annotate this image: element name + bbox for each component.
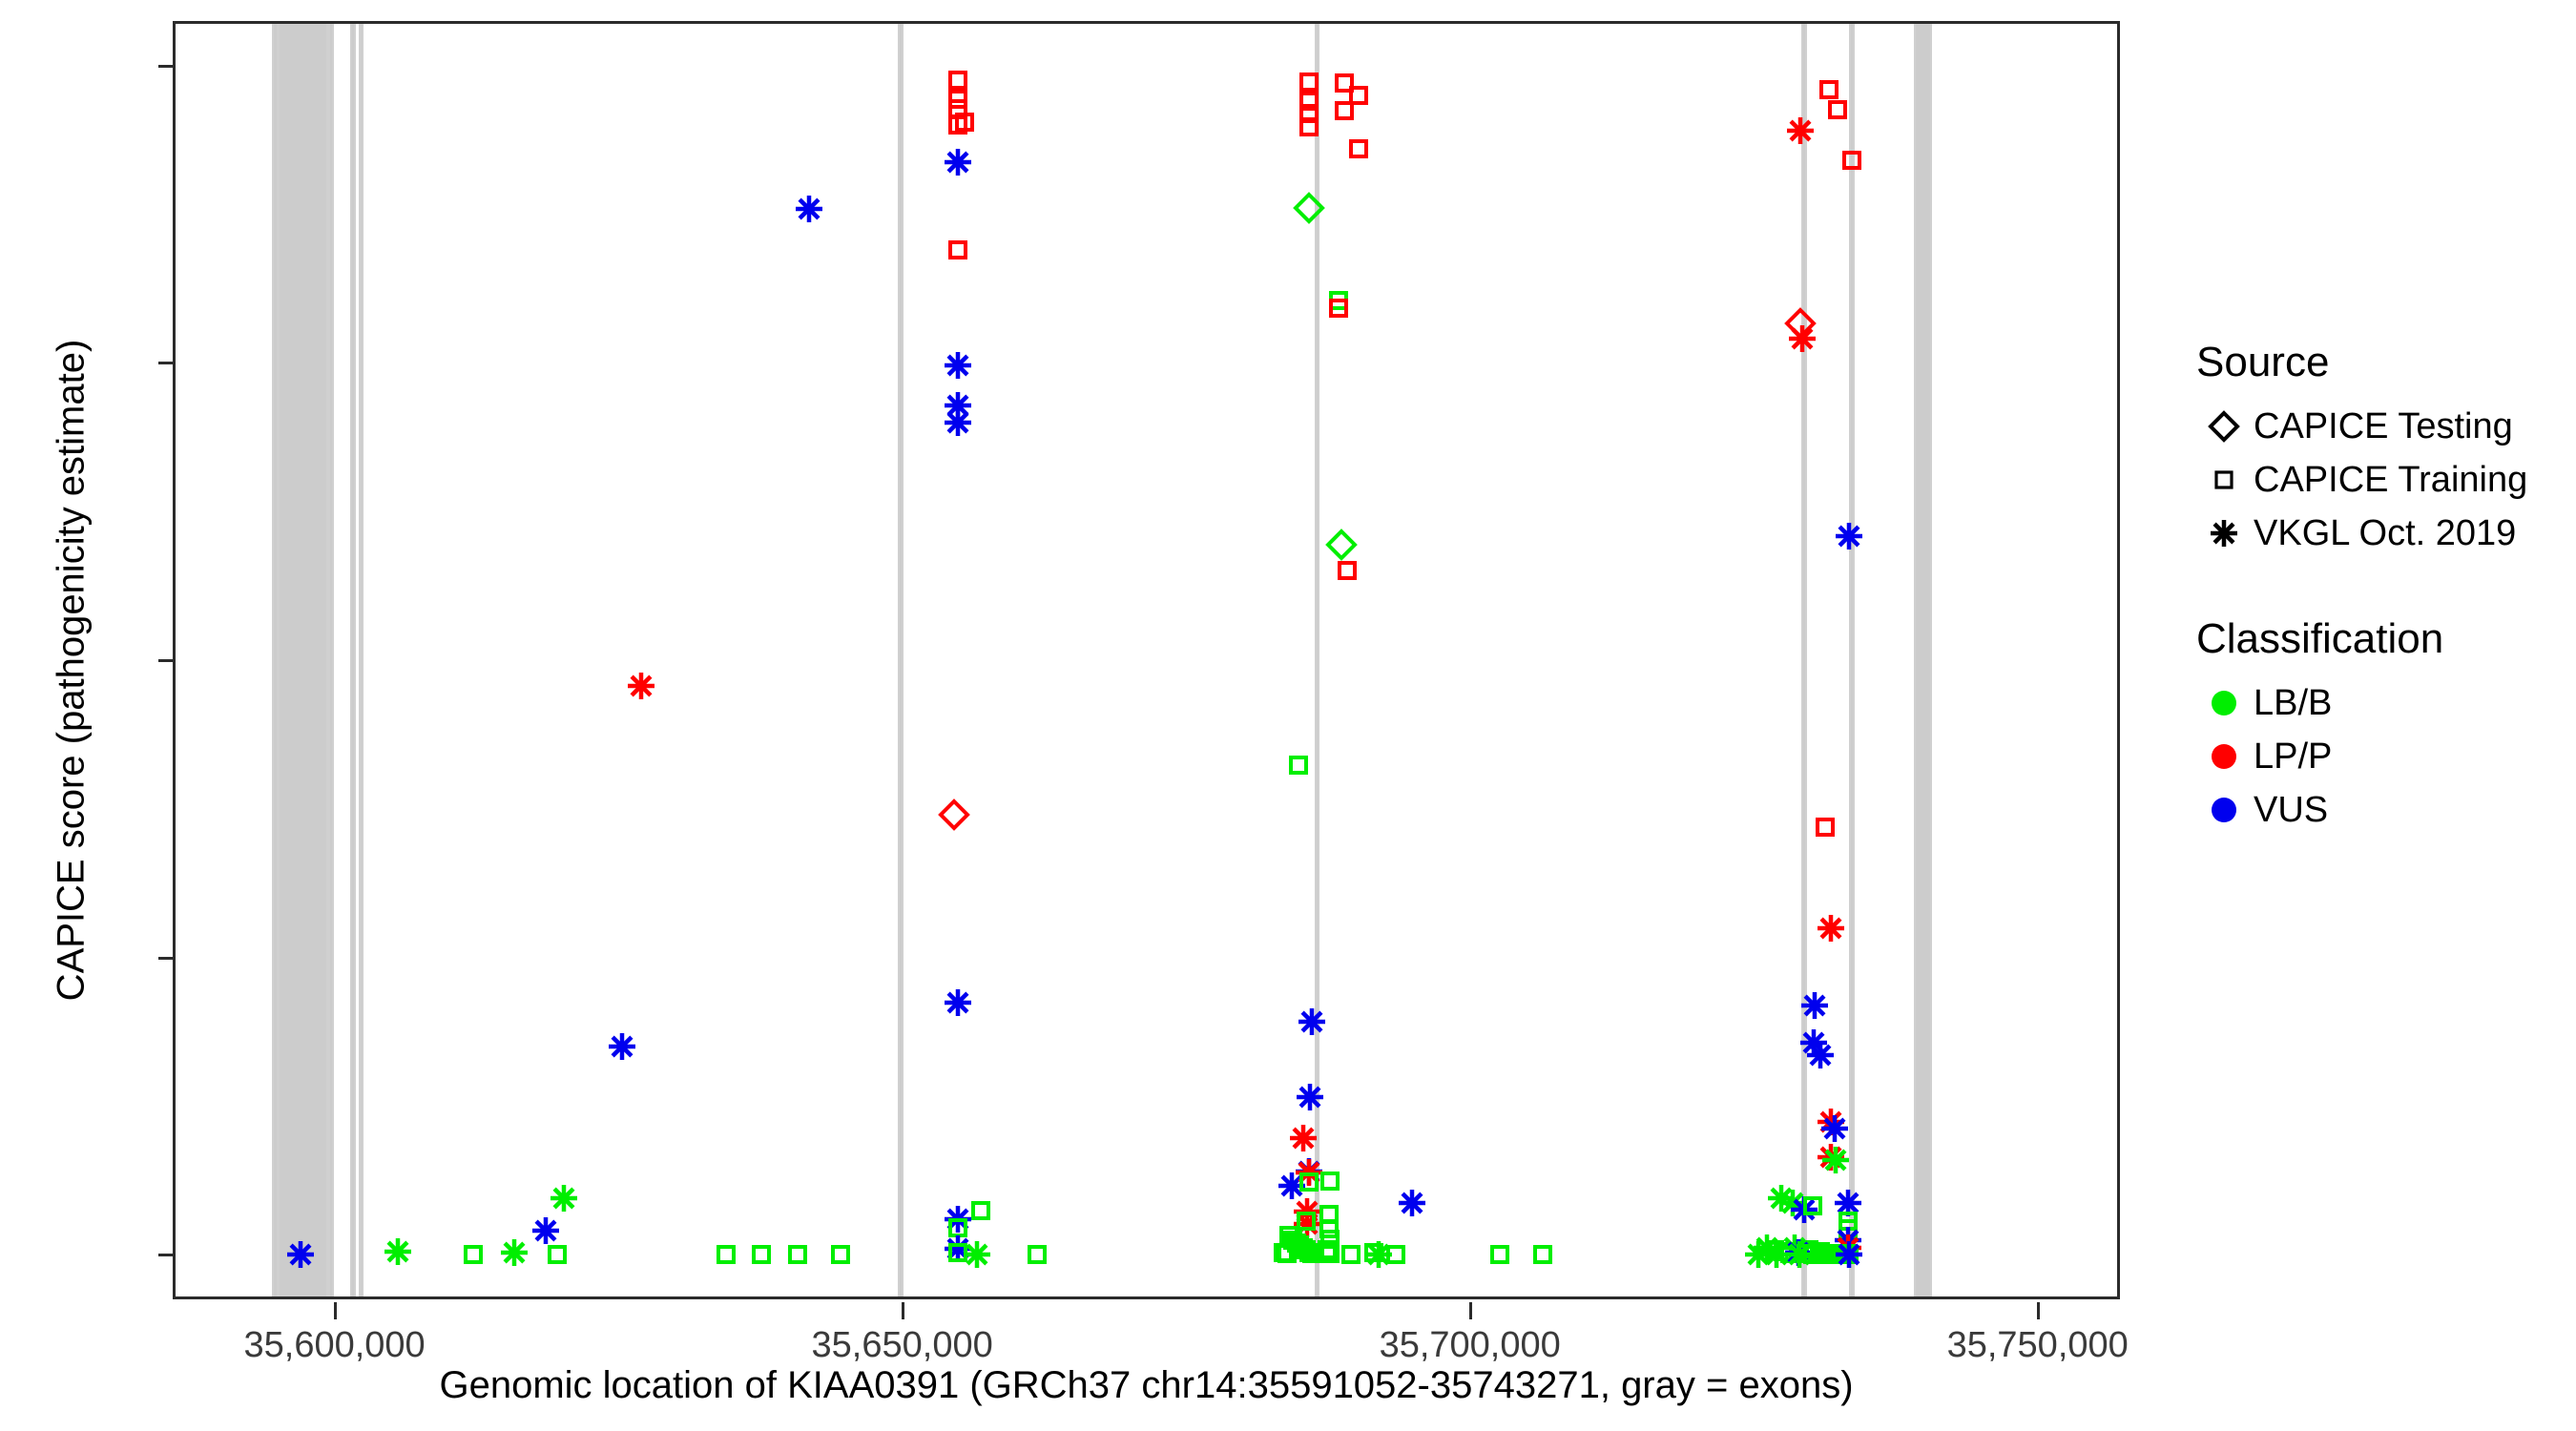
data-point bbox=[1767, 1235, 1799, 1268]
data-point bbox=[1810, 1237, 1842, 1270]
data-point bbox=[710, 1238, 742, 1271]
y-axis-tick bbox=[158, 65, 176, 68]
data-point bbox=[1273, 1219, 1305, 1252]
exon-boundary-line bbox=[272, 24, 274, 1296]
data-point bbox=[1358, 1236, 1390, 1269]
data-point bbox=[1782, 1236, 1815, 1269]
data-point bbox=[1283, 1229, 1316, 1261]
plot-panel bbox=[173, 21, 2120, 1299]
data-point bbox=[942, 1236, 974, 1269]
data-point bbox=[942, 349, 974, 382]
data-point bbox=[942, 1203, 974, 1235]
data-point bbox=[1271, 1237, 1303, 1270]
data-point bbox=[1815, 1141, 1847, 1173]
legend-item-label: VUS bbox=[2254, 790, 2328, 831]
data-point bbox=[1328, 94, 1361, 127]
data-point bbox=[548, 1182, 580, 1214]
data-point bbox=[942, 406, 974, 439]
data-point bbox=[1380, 1238, 1412, 1271]
y-axis-tick bbox=[158, 362, 176, 364]
data-point bbox=[1742, 1238, 1775, 1271]
data-point bbox=[1293, 1156, 1325, 1189]
exon-boundary-line bbox=[1930, 24, 1932, 1296]
data-point bbox=[793, 193, 825, 225]
data-point bbox=[942, 234, 974, 266]
data-point bbox=[1293, 192, 1325, 224]
x-axis-tick-label: 35,600,000 bbox=[244, 1325, 426, 1366]
data-point bbox=[745, 1238, 778, 1271]
data-point bbox=[1296, 1006, 1328, 1038]
data-point bbox=[1328, 67, 1361, 99]
legend-item[interactable]: CAPICE Training bbox=[2194, 453, 2576, 507]
data-point bbox=[1325, 529, 1358, 561]
exon-boundary-line bbox=[362, 24, 364, 1296]
legend-item-label: LB/B bbox=[2254, 683, 2332, 724]
data-point bbox=[938, 798, 970, 831]
data-point bbox=[1484, 1238, 1516, 1271]
data-point bbox=[1342, 79, 1375, 112]
exon-boundary-line bbox=[1853, 24, 1855, 1296]
data-point bbox=[942, 389, 974, 422]
data-point bbox=[1280, 1227, 1313, 1259]
data-point bbox=[606, 1030, 638, 1063]
data-point bbox=[1832, 1213, 1864, 1245]
data-point bbox=[1815, 912, 1847, 944]
exon-boundary-line bbox=[902, 24, 904, 1296]
x-axis-tick-label: 35,700,000 bbox=[1380, 1325, 1561, 1366]
data-point bbox=[942, 986, 974, 1019]
data-point bbox=[1276, 1170, 1308, 1202]
legend-item-label: LP/P bbox=[2254, 736, 2332, 778]
data-point bbox=[1362, 1238, 1395, 1271]
data-point bbox=[1322, 292, 1355, 324]
legend-group-classification: LB/BLP/PVUS bbox=[2194, 676, 2576, 837]
data-point bbox=[1293, 85, 1325, 117]
data-point bbox=[1335, 1238, 1367, 1271]
x-axis-tick bbox=[2037, 1302, 2040, 1319]
data-point bbox=[625, 670, 657, 702]
data-point bbox=[1751, 1232, 1783, 1264]
data-point bbox=[1277, 1224, 1309, 1256]
data-point bbox=[1819, 1144, 1852, 1176]
legend-group-source: CAPICE TestingCAPICE TrainingVKGL Oct. 2… bbox=[2194, 400, 2576, 560]
legend-item[interactable]: LP/P bbox=[2194, 730, 2576, 783]
data-point bbox=[942, 93, 974, 125]
data-point bbox=[1804, 1235, 1837, 1268]
exon-boundary-line bbox=[1805, 24, 1807, 1296]
data-point bbox=[942, 1212, 974, 1244]
x-axis-tick bbox=[1469, 1302, 1472, 1319]
data-point bbox=[1832, 1187, 1864, 1219]
y-axis-tick bbox=[158, 1254, 176, 1256]
data-point bbox=[1760, 1238, 1793, 1271]
data-point bbox=[1793, 1234, 1825, 1266]
data-point bbox=[824, 1238, 857, 1271]
data-point bbox=[942, 1233, 974, 1265]
filled-circle-icon bbox=[2194, 744, 2254, 769]
data-point bbox=[1832, 1232, 1864, 1264]
data-point bbox=[382, 1235, 414, 1268]
x-axis-tick-label: 35,750,000 bbox=[1947, 1325, 2129, 1366]
filled-circle-icon bbox=[2194, 798, 2254, 822]
data-point bbox=[942, 64, 974, 96]
exon-boundary-line bbox=[354, 24, 356, 1296]
data-point bbox=[781, 1238, 814, 1271]
y-axis-tick bbox=[158, 957, 176, 960]
data-point bbox=[1293, 111, 1325, 143]
exon-boundary-line bbox=[1849, 24, 1851, 1296]
exon-boundary-line bbox=[1914, 24, 1916, 1296]
data-point bbox=[942, 146, 974, 178]
x-axis-title: Genomic location of KIAA0391 (GRCh37 chr… bbox=[173, 1364, 2120, 1407]
data-point bbox=[1296, 1237, 1328, 1270]
exon-boundary-line bbox=[1318, 24, 1319, 1296]
data-point bbox=[1331, 554, 1363, 587]
exon-boundary-line bbox=[1801, 24, 1803, 1296]
y-axis-tick bbox=[158, 659, 176, 662]
exon-boundary-line bbox=[350, 24, 352, 1296]
legend-item[interactable]: VKGL Oct. 2019 bbox=[2194, 507, 2576, 560]
data-point bbox=[1293, 1236, 1325, 1269]
exon-boundary-line bbox=[1315, 24, 1317, 1296]
data-point bbox=[1293, 66, 1325, 98]
legend-item[interactable]: LB/B bbox=[2194, 676, 2576, 730]
data-point bbox=[1818, 1112, 1851, 1145]
data-point bbox=[1783, 1238, 1816, 1271]
data-point bbox=[1832, 1205, 1864, 1237]
data-point bbox=[498, 1236, 530, 1269]
x-axis-tick bbox=[334, 1302, 337, 1319]
data-point bbox=[942, 109, 974, 141]
data-point bbox=[1342, 133, 1375, 165]
x-axis-tick-label: 35,650,000 bbox=[812, 1325, 993, 1366]
legend-item-label: CAPICE Training bbox=[2254, 460, 2527, 501]
legend-item-label: CAPICE Testing bbox=[2254, 406, 2513, 447]
data-point bbox=[942, 83, 974, 115]
data-point bbox=[1282, 749, 1315, 781]
data-point bbox=[1021, 1238, 1053, 1271]
exon-boundary-line bbox=[328, 24, 330, 1296]
asterisk-icon bbox=[2194, 517, 2254, 550]
data-point bbox=[1765, 1182, 1797, 1214]
square-outline-icon bbox=[2194, 464, 2254, 496]
data-point bbox=[1322, 284, 1355, 317]
exon-boundary-line bbox=[359, 24, 361, 1296]
data-point bbox=[530, 1214, 562, 1247]
data-point bbox=[1827, 1238, 1859, 1271]
data-point bbox=[1803, 1236, 1836, 1269]
data-point bbox=[1527, 1238, 1559, 1271]
data-point bbox=[1396, 1187, 1428, 1219]
y-axis-title: CAPICE score (pathogenicity estimate) bbox=[51, 51, 93, 1291]
legend-title-source: Source bbox=[2196, 339, 2576, 386]
data-point bbox=[1293, 1166, 1325, 1198]
diamond-outline-icon bbox=[2194, 410, 2254, 443]
legend-item[interactable]: CAPICE Testing bbox=[2194, 400, 2576, 453]
x-axis-tick bbox=[902, 1302, 904, 1319]
data-point bbox=[948, 106, 981, 138]
exon-boundary-line bbox=[278, 24, 280, 1296]
legend: Source CAPICE TestingCAPICE TrainingVKGL… bbox=[2194, 339, 2576, 837]
data-point bbox=[457, 1238, 489, 1271]
data-point bbox=[1831, 1237, 1863, 1270]
data-point bbox=[1832, 1224, 1864, 1256]
data-point bbox=[1758, 1234, 1791, 1266]
data-point bbox=[1293, 97, 1325, 130]
data-point bbox=[1815, 1106, 1847, 1138]
data-point bbox=[961, 1238, 993, 1271]
legend-item[interactable]: VUS bbox=[2194, 783, 2576, 837]
data-point bbox=[1784, 307, 1817, 340]
data-point bbox=[541, 1238, 573, 1271]
data-point bbox=[1816, 1238, 1848, 1271]
legend-title-classification: Classification bbox=[2196, 615, 2576, 663]
filled-circle-icon bbox=[2194, 691, 2254, 715]
legend-item-label: VKGL Oct. 2019 bbox=[2254, 513, 2516, 554]
data-point bbox=[1784, 114, 1817, 147]
exon-band bbox=[279, 24, 327, 1296]
data-point bbox=[1813, 73, 1845, 106]
exon-boundary-line bbox=[898, 24, 900, 1296]
data-point bbox=[1809, 1237, 1841, 1270]
data-point bbox=[1809, 811, 1841, 843]
exon-band bbox=[1915, 24, 1931, 1296]
data-point bbox=[1293, 1155, 1325, 1188]
data-point bbox=[1267, 1236, 1299, 1269]
exon-boundary-line bbox=[332, 24, 334, 1296]
data-point bbox=[965, 1194, 997, 1227]
plot-area bbox=[176, 24, 2117, 1296]
data-point bbox=[1294, 1081, 1326, 1113]
chart-root: CAPICE score (pathogenicity estimate) 0.… bbox=[0, 0, 2576, 1431]
data-point bbox=[1804, 1039, 1837, 1071]
